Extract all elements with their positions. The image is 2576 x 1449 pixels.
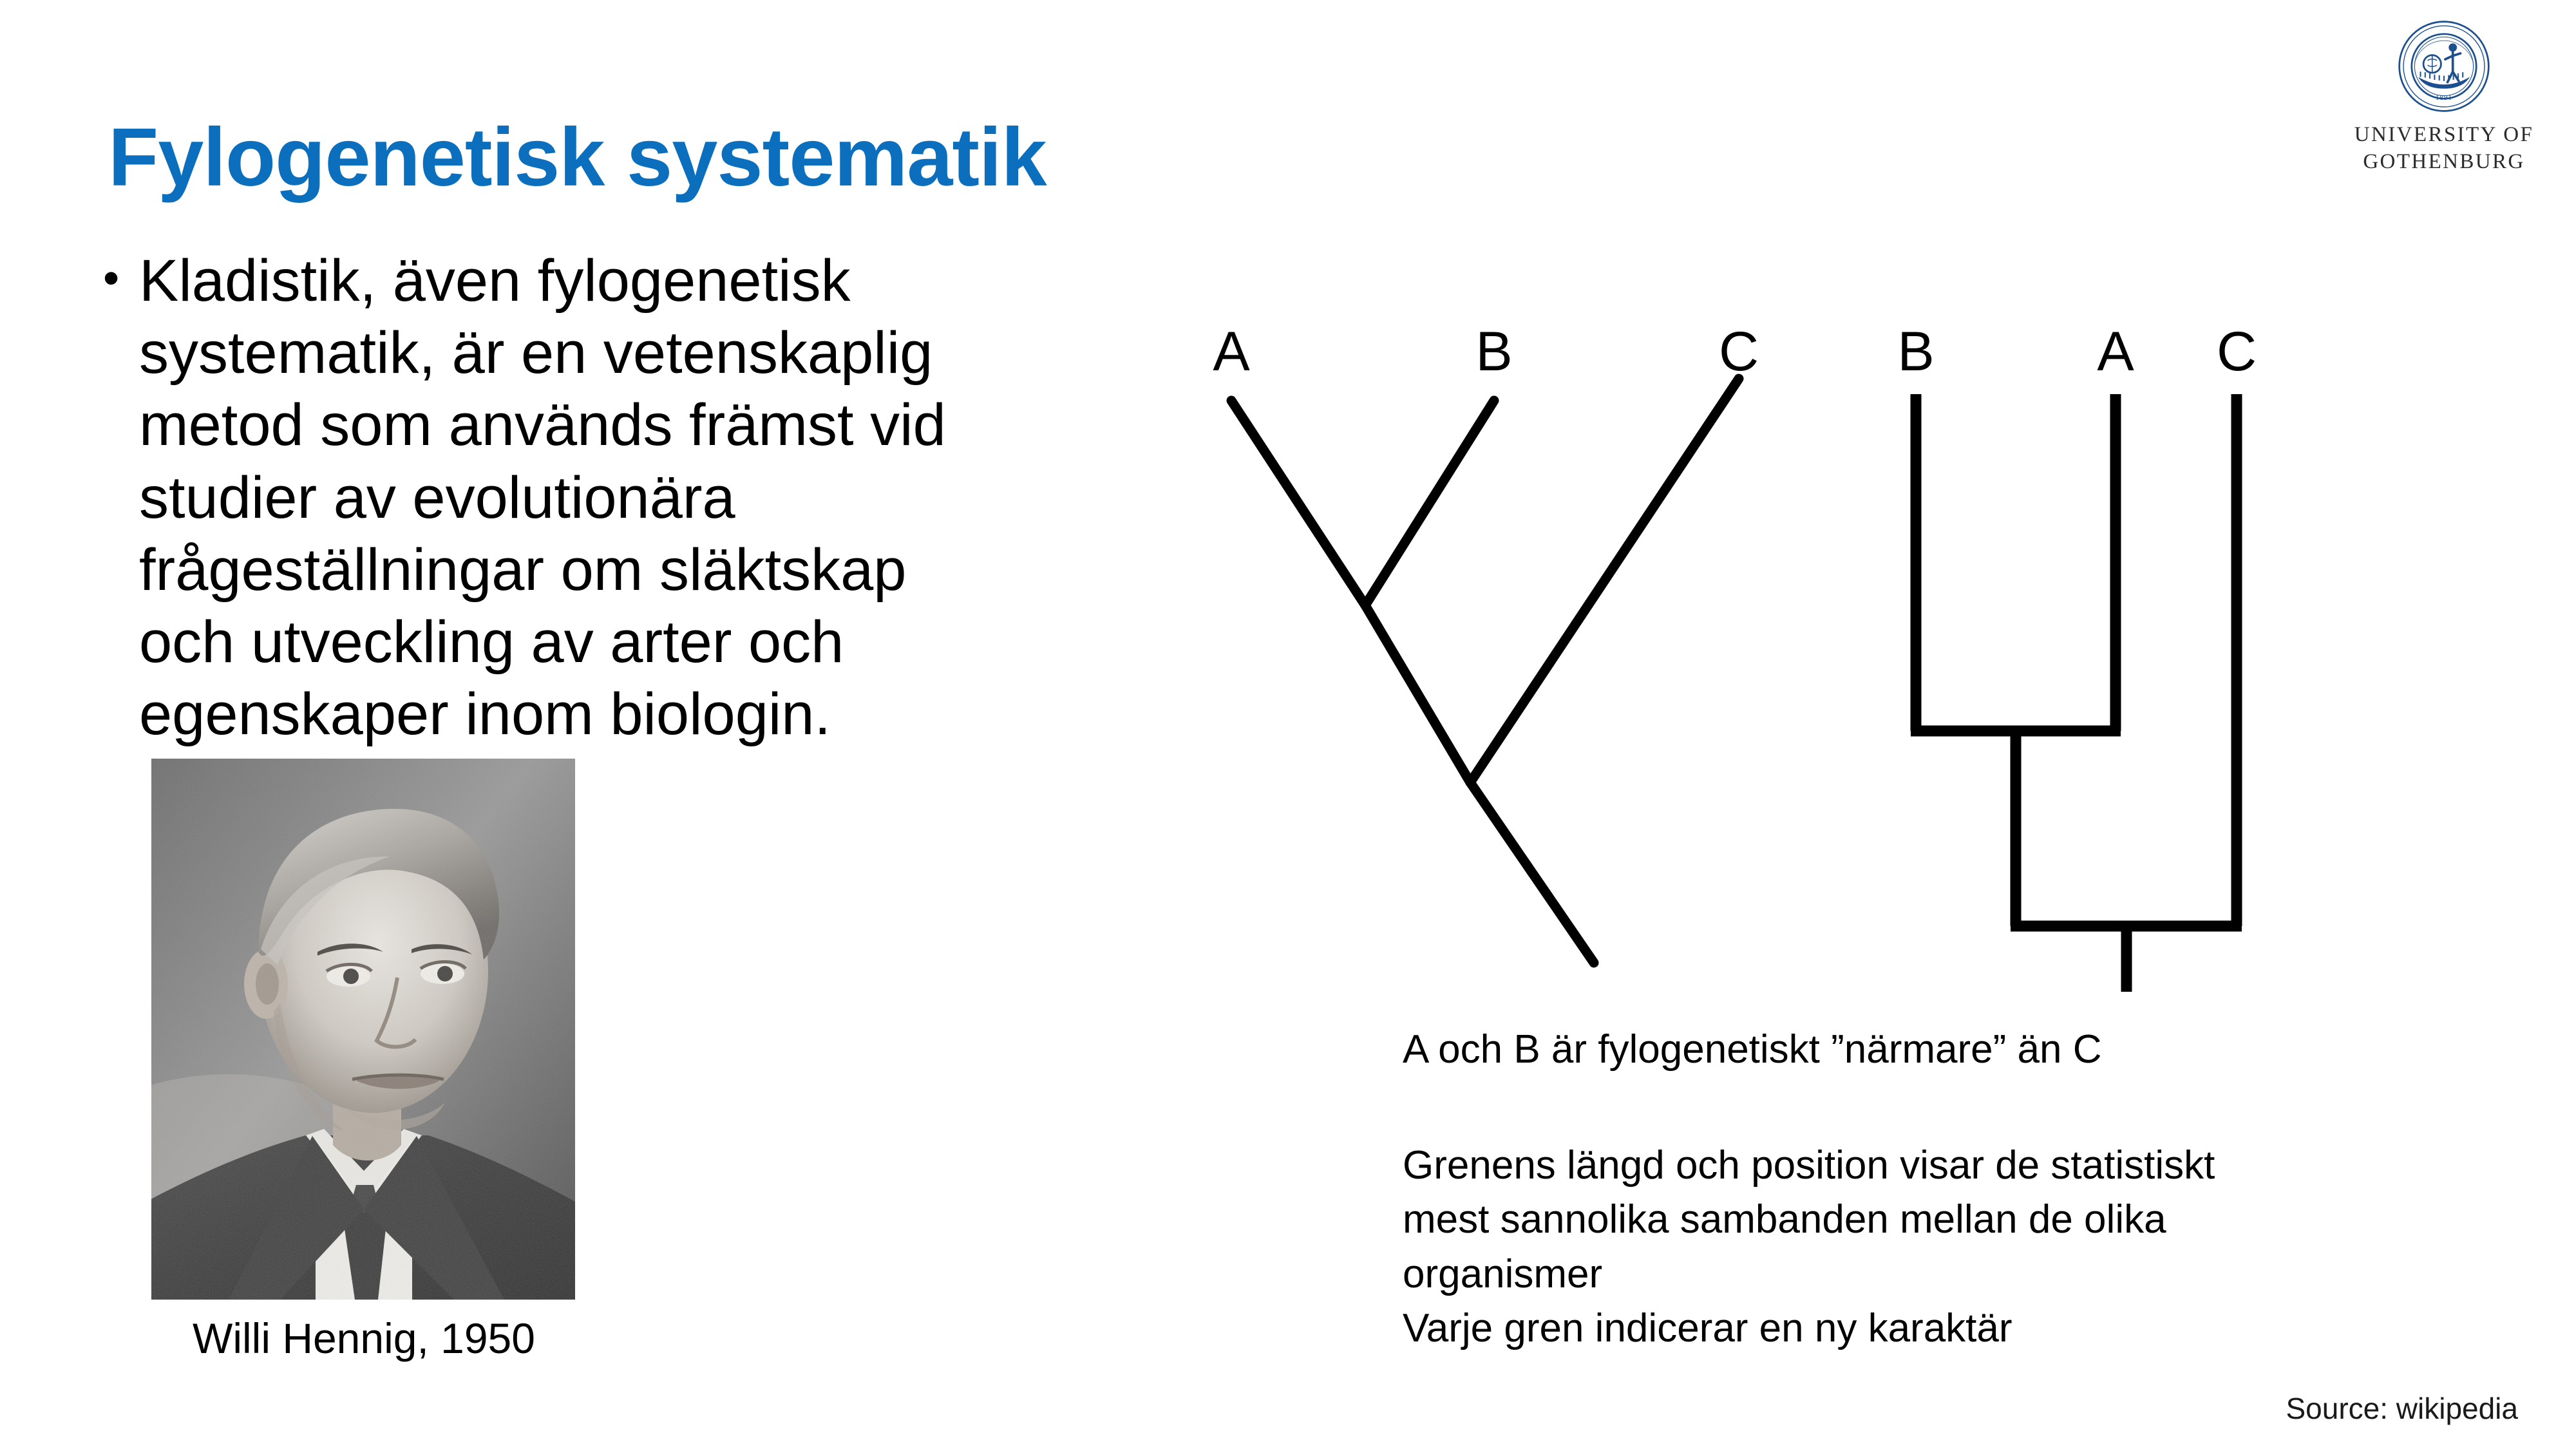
source-attribution: Source: wikipedia <box>2286 1391 2518 1426</box>
body-text-block: • Kladistik, även fylogenetisk systemati… <box>103 245 1018 751</box>
left-tree-branches <box>1231 379 1739 963</box>
list-item: • Kladistik, även fylogenetisk systemati… <box>103 245 1018 751</box>
wordmark-line-1: UNIVERSITY OF <box>2347 121 2541 148</box>
university-wordmark: UNIVERSITY OF GOTHENBURG <box>2347 121 2541 175</box>
bullet-marker-icon: • <box>103 245 139 312</box>
tree-leaf-label-c-left: C <box>1719 321 1759 383</box>
note-line-2: mest sannolika sambanden mellan de olika <box>1403 1193 2369 1247</box>
slide-canvas: Fylogenetisk systematik • Kladistik, äve… <box>0 0 2576 1449</box>
university-logo: 1891 UNIVERSITY OF GOTHENBURG <box>2347 19 2541 193</box>
university-seal-icon: 1891 <box>2397 19 2491 113</box>
willi-hennig-photo <box>151 759 575 1300</box>
phylogenetic-trees-figure: A B C B A C <box>1172 303 2331 1030</box>
wordmark-line-2: GOTHENBURG <box>2347 148 2541 175</box>
note-line-4: Varje gren indicerar en ny karaktär <box>1403 1302 2369 1356</box>
page-title: Fylogenetisk systematik <box>108 115 1783 201</box>
tree-note-paragraph: Grenens längd och position visar de stat… <box>1403 1139 2369 1356</box>
tree-leaf-label-a-left: A <box>1213 321 1250 383</box>
note-line-3: organismer <box>1403 1247 2369 1302</box>
bullet-text: Kladistik, även fylogenetisk systematik,… <box>139 245 1018 751</box>
tree-leaf-label-a-right: A <box>2097 321 2134 383</box>
tree-leaf-label-b-right: B <box>1897 321 1934 383</box>
svg-text:1891: 1891 <box>2436 94 2452 102</box>
tree-leaf-label-c-right: C <box>2217 321 2257 383</box>
tree-note-relatedness: A och B är fylogenetiskt ”närmare” än C <box>1403 1024 2101 1076</box>
right-tree-branches <box>1911 394 2242 992</box>
note-line-1: Grenens längd och position visar de stat… <box>1403 1139 2369 1193</box>
photo-caption: Willi Hennig, 1950 <box>100 1314 628 1363</box>
tree-leaf-label-b-left: B <box>1475 321 1512 383</box>
